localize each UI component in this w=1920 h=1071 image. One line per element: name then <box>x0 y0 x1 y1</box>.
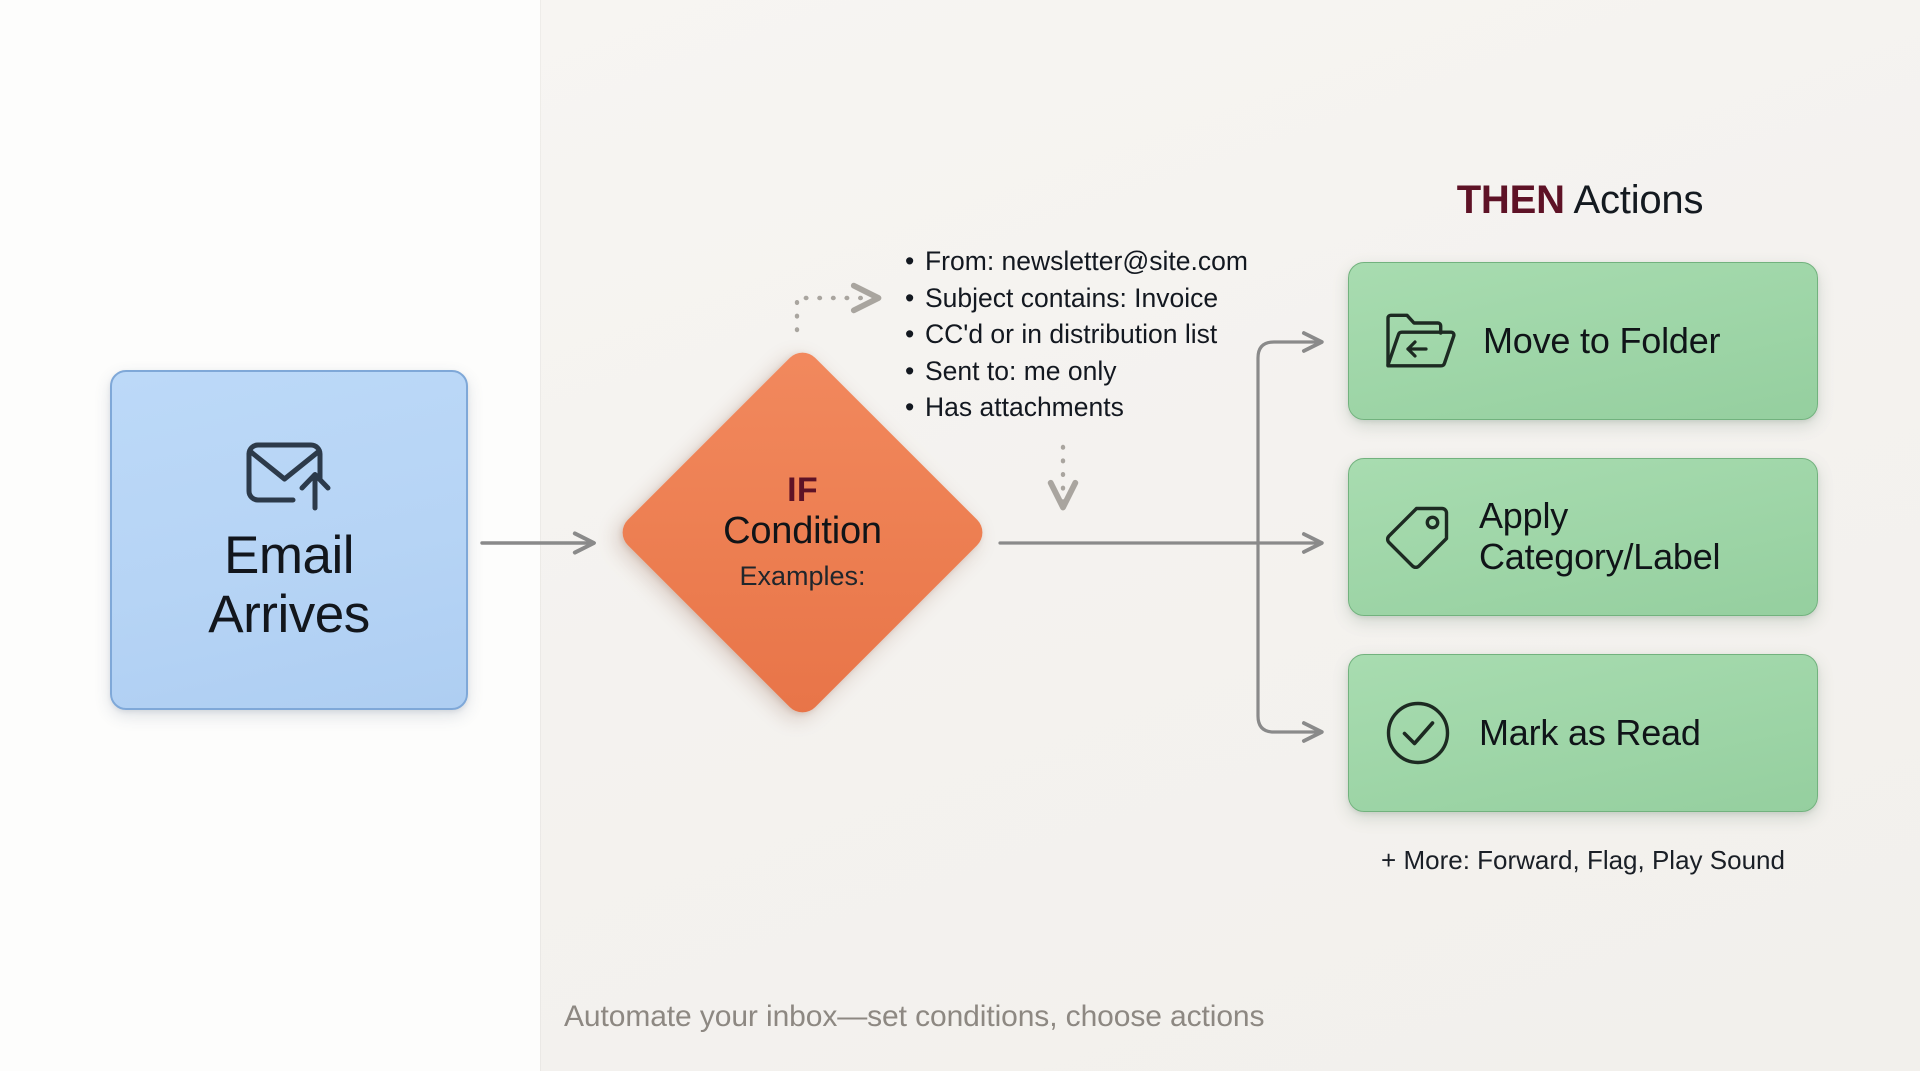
trigger-label-line2: Arrives <box>208 585 369 644</box>
envelope-up-arrow-icon <box>241 436 337 512</box>
action-card-move-to-folder[interactable]: Move to Folder <box>1348 262 1818 420</box>
action-card-label: Mark as Read <box>1479 713 1701 754</box>
diagram-canvas: Email Arrives IF Condition Examples: Fro… <box>0 0 1920 1071</box>
condition-keyword: IF <box>787 471 818 509</box>
action-card-apply-category-label[interactable]: Apply Category/Label <box>1348 458 1818 616</box>
action-card-label-line1: Apply <box>1479 496 1720 537</box>
action-card-label: Apply Category/Label <box>1479 496 1720 577</box>
condition-examples-list: From: newsletter@site.com Subject contai… <box>905 243 1305 426</box>
then-heading-rest: Actions <box>1565 178 1703 222</box>
action-card-label-line2: Category/Label <box>1479 537 1720 578</box>
action-card-mark-as-read[interactable]: Mark as Read <box>1348 654 1818 812</box>
condition-example-item: Sent to: me only <box>905 353 1305 390</box>
then-keyword: THEN <box>1457 178 1565 222</box>
more-actions-note: + More: Forward, Flag, Play Sound <box>1348 845 1818 876</box>
trigger-label-line1: Email <box>208 526 369 585</box>
panel-divider <box>540 0 541 1071</box>
condition-subtitle: Examples: <box>739 559 865 594</box>
diagram-caption: Automate your inbox—set conditions, choo… <box>564 1000 1264 1034</box>
condition-example-item: CC'd or in distribution list <box>905 316 1305 353</box>
trigger-email-arrives-box[interactable]: Email Arrives <box>110 370 468 710</box>
trigger-label: Email Arrives <box>208 526 369 645</box>
condition-example-item: Subject contains: Invoice <box>905 280 1305 317</box>
condition-example-item: Has attachments <box>905 389 1305 426</box>
condition-title: Condition <box>723 509 882 555</box>
folder-move-in-icon <box>1383 310 1457 372</box>
condition-example-item: From: newsletter@site.com <box>905 243 1305 280</box>
action-card-label: Move to Folder <box>1483 321 1720 362</box>
check-circle-icon <box>1383 698 1453 768</box>
tag-label-icon <box>1383 502 1453 572</box>
then-actions-heading: THEN Actions <box>1420 178 1740 222</box>
